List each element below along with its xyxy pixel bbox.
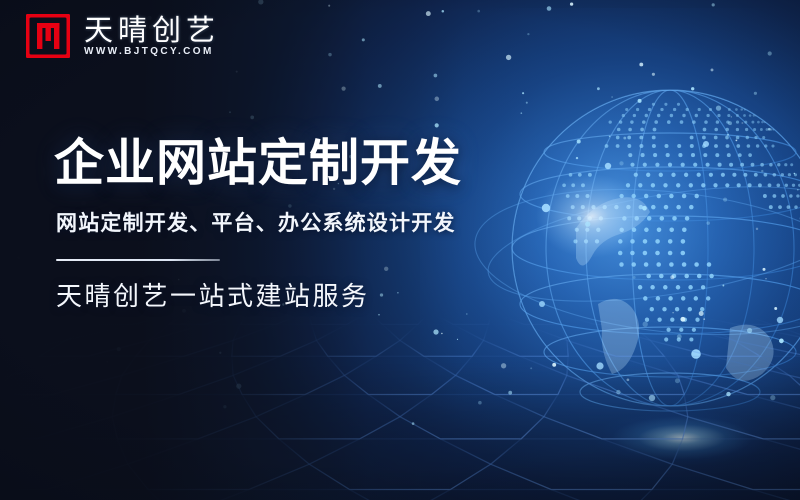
divider-rule	[56, 259, 220, 261]
hero-tagline: 天晴创艺一站式建站服务	[56, 283, 574, 312]
brand-logo[interactable]: 天晴创艺 WWW.BJTQCY.COM	[26, 14, 220, 58]
promo-banner: 天晴创艺 WWW.BJTQCY.COM 企业网站定制开发 网站定制开发、平台、办…	[0, 0, 800, 500]
logo-company-name: 天晴创艺	[84, 16, 220, 45]
hero-subheadline: 网站定制开发、平台、办公系统设计开发	[56, 212, 574, 235]
logo-website-url: WWW.BJTQCY.COM	[84, 47, 220, 57]
hero-copy: 企业网站定制开发 网站定制开发、平台、办公系统设计开发 天晴创艺一站式建站服务	[54, 136, 574, 312]
logo-wordmark: 天晴创艺 WWW.BJTQCY.COM	[84, 16, 220, 57]
logo-mark-icon	[26, 14, 70, 58]
hero-headline: 企业网站定制开发	[54, 136, 574, 190]
